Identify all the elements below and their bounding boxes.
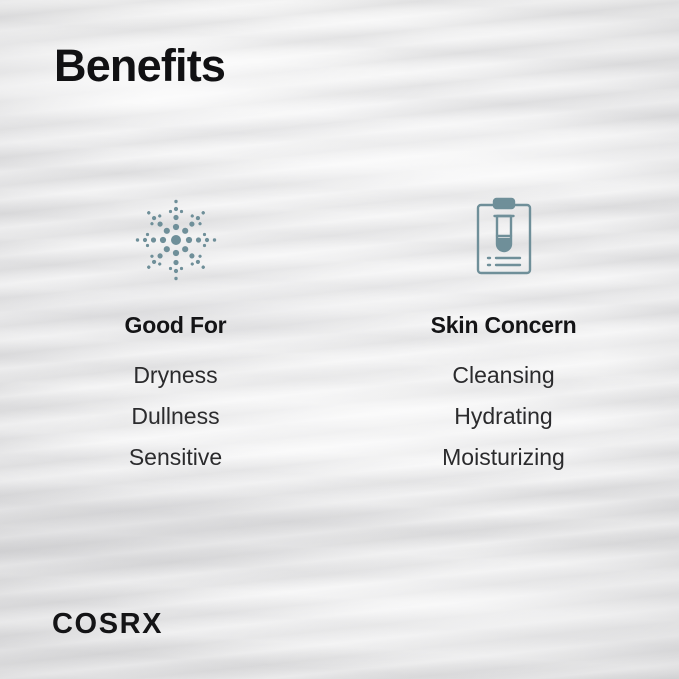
product-benefits-graphic: Benefits [0,0,679,679]
benefit-column-skin-concern: Skin Concern Cleansing Hydrating Moistur… [354,190,654,478]
list-item: Hydrating [354,396,654,437]
list-item: Dullness [26,396,326,437]
benefit-column-title: Good For [26,312,326,339]
benefit-list-good-for: Dryness Dullness Sensitive [26,355,326,478]
content-layer: Benefits [0,0,679,679]
list-item: Cleansing [354,355,654,396]
page-title: Benefits [54,40,225,92]
list-item: Dryness [26,355,326,396]
benefits-columns: Good For Dryness Dullness Sensitive [0,190,679,478]
clipboard-test-tube-icon [354,190,654,290]
snowflake-icon [26,190,326,290]
benefit-column-title: Skin Concern [354,312,654,339]
benefit-column-good-for: Good For Dryness Dullness Sensitive [26,190,326,478]
list-item: Sensitive [26,437,326,478]
benefit-list-skin-concern: Cleansing Hydrating Moisturizing [354,355,654,478]
brand-logo: COSRX [52,608,163,641]
list-item: Moisturizing [354,437,654,478]
